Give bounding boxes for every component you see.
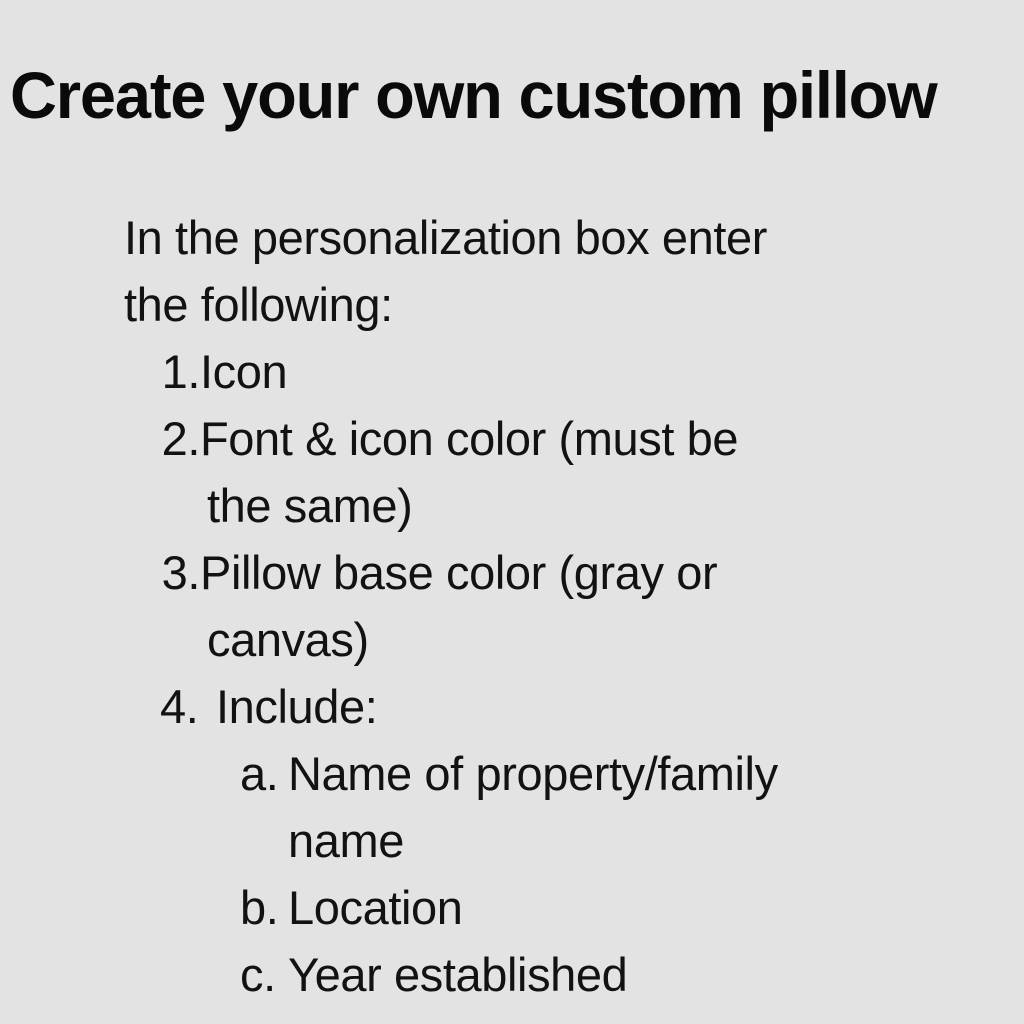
list-marker-3: 3.	[0, 539, 200, 606]
list-text-3-continuation: canvas)	[0, 606, 1024, 673]
page-title: Create your own custom pillow	[10, 62, 1009, 128]
list-text-4: Include:	[216, 673, 924, 740]
list-marker-4: 4.	[160, 673, 280, 740]
list-text-2: Font & icon color (must be	[200, 405, 924, 472]
list-marker-2: 2.	[0, 405, 200, 472]
sublist-text-b: Location	[288, 881, 463, 934]
intro-line-2: the following:	[0, 271, 1024, 338]
sublist-text-a-continuation: name	[0, 807, 1024, 874]
list-item-1: 1. Icon	[0, 338, 1024, 405]
list-marker-1: 1.	[0, 338, 200, 405]
intro-line-1: In the personalization box enter	[0, 204, 1024, 271]
sublist-item-b: b. Location	[0, 874, 1024, 941]
list-item-3: 3. Pillow base color (gray or	[0, 539, 1024, 606]
sublist-text-c: Year established	[288, 948, 627, 1001]
instructions-body: In the personalization box enter the fol…	[0, 204, 1024, 1008]
instruction-card: Create your own custom pillow In the per…	[0, 0, 1024, 1024]
list-text-2-continuation: the same)	[0, 472, 1024, 539]
sublist-text-a: Name of property/family	[288, 747, 778, 800]
sublist-marker-a: a.	[240, 740, 288, 807]
list-item-2: 2. Font & icon color (must be	[0, 405, 1024, 472]
sublist-item-a: a. Name of property/family	[0, 740, 1024, 807]
list-text-3: Pillow base color (gray or	[200, 539, 924, 606]
list-text-1: Icon	[200, 338, 924, 405]
sublist-marker-b: b.	[240, 874, 288, 941]
sublist-marker-c: c.	[240, 941, 288, 1008]
list-item-4: 4. Include:	[0, 673, 1024, 740]
sublist-item-c: c. Year established	[0, 941, 1024, 1008]
